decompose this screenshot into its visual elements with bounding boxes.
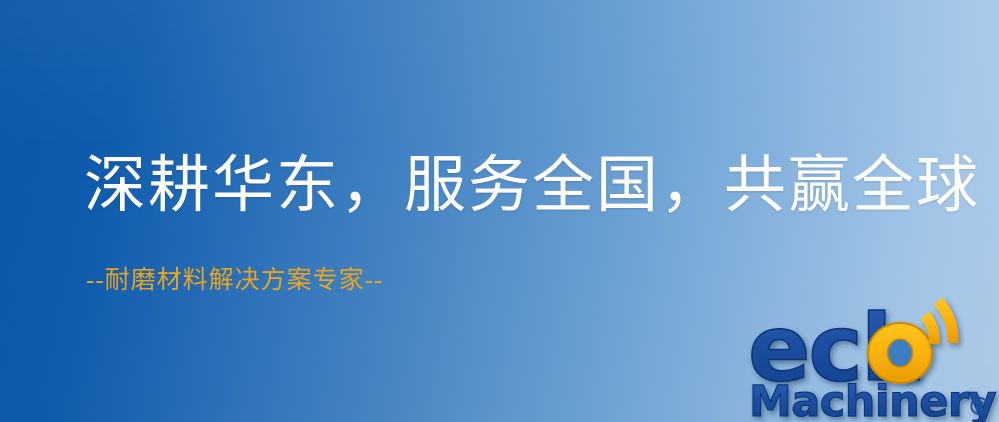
hero-banner: 深耕华东，服务全国，共赢全球 --耐磨材料解决方案专家-- bbox=[0, 0, 999, 422]
logo-registered-mark: ® bbox=[967, 392, 992, 421]
logo-signal-arcs-icon bbox=[925, 301, 953, 344]
echo-machinery-logo[interactable]: ech Machinery ® bbox=[748, 296, 999, 422]
logo-o-ring-icon bbox=[868, 323, 932, 383]
banner-headline: 深耕华东，服务全国，共赢全球 bbox=[84, 155, 980, 217]
banner-subtitle: --耐磨材料解决方案专家-- bbox=[86, 268, 383, 293]
logo-machinery-wordmark: Machinery ® bbox=[749, 377, 997, 422]
logo-machinery-label: Machinery bbox=[749, 377, 997, 422]
